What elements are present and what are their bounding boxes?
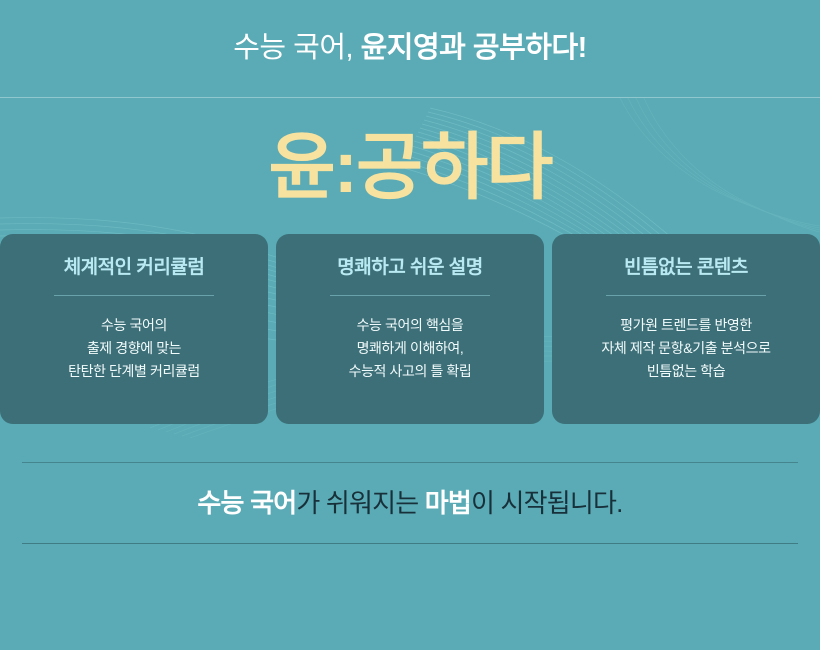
- banner-header: 수능 국어, 윤지영과 공부하다!: [0, 0, 820, 97]
- tagline-highlight-2: 마법: [425, 488, 471, 518]
- feature-card-explanation[interactable]: 명쾌하고 쉬운 설명 수능 국어의 핵심을 명쾌하게 이해하여, 수능적 사고의…: [276, 234, 544, 424]
- feature-card-curriculum[interactable]: 체계적인 커리큘럼 수능 국어의 출제 경향에 맞는 탄탄한 단계별 커리큘럼: [0, 234, 268, 424]
- header-title-bold: 윤지영과 공부하다!: [361, 32, 587, 64]
- header-title: 수능 국어, 윤지영과 공부하다!: [233, 34, 587, 63]
- brand-logo: 윤:공하다: [0, 112, 820, 222]
- feature-card-list: 체계적인 커리큘럼 수능 국어의 출제 경향에 맞는 탄탄한 단계별 커리큘럼 …: [0, 234, 820, 424]
- tagline-divider-bottom: [22, 543, 798, 544]
- feature-card-body: 평가원 트렌드를 반영한 자체 제작 문항&기출 분석으로 빈틈없는 학습: [566, 314, 806, 382]
- feature-card-contents[interactable]: 빈틈없는 콘텐츠 평가원 트렌드를 반영한 자체 제작 문항&기출 분석으로 빈…: [552, 234, 820, 424]
- feature-card-body: 수능 국어의 출제 경향에 맞는 탄탄한 단계별 커리큘럼: [14, 314, 254, 382]
- feature-card-title: 명쾌하고 쉬운 설명: [290, 258, 530, 277]
- feature-card-body: 수능 국어의 핵심을 명쾌하게 이해하여, 수능적 사고의 틀 확립: [290, 314, 530, 382]
- header-divider: [0, 97, 820, 98]
- feature-card-divider: [330, 295, 490, 296]
- tagline-section: 수능 국어가 쉬워지는 마법이 시작됩니다.: [0, 463, 820, 543]
- feature-card-title: 빈틈없는 콘텐츠: [566, 258, 806, 277]
- feature-card-divider: [54, 295, 214, 296]
- tagline-highlight-1: 수능 국어: [197, 488, 296, 518]
- promo-banner: 수능 국어, 윤지영과 공부하다! 윤:공하다 체계적인 커리큘럼 수능 국어의…: [0, 0, 820, 650]
- tagline-plain-1: 가 쉬워지는: [296, 488, 424, 518]
- tagline-text: 수능 국어가 쉬워지는 마법이 시작됩니다.: [197, 490, 622, 516]
- tagline-plain-2: 이 시작됩니다.: [471, 488, 623, 518]
- brand-logo-text: 윤:공하다: [269, 131, 552, 204]
- header-title-light: 수능 국어,: [233, 32, 353, 64]
- feature-card-divider: [606, 295, 766, 296]
- feature-card-title: 체계적인 커리큘럼: [14, 258, 254, 277]
